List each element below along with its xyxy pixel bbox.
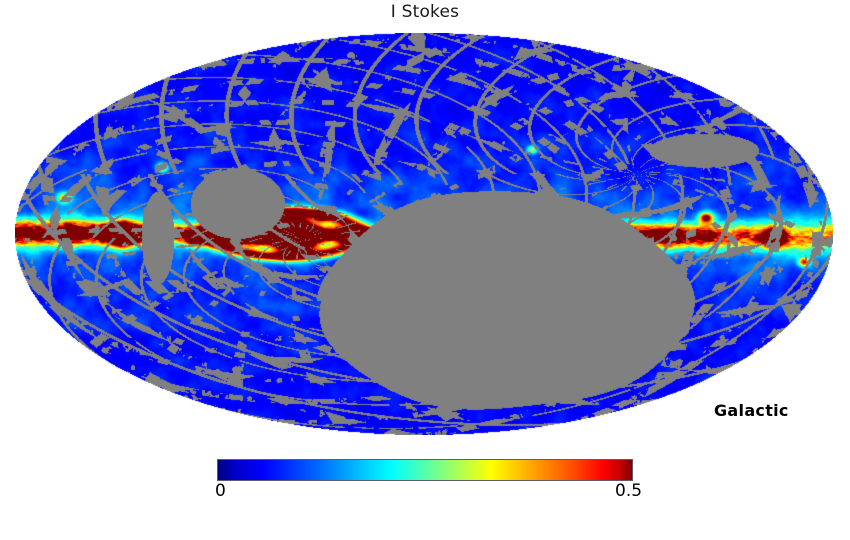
page-title: I Stokes bbox=[0, 2, 850, 22]
colorbar-gradient bbox=[217, 459, 633, 481]
colorbar-min-label: 0 bbox=[215, 483, 226, 500]
colorbar bbox=[217, 459, 633, 481]
sky-map-figure: I Stokes Galactic 0 0.5 bbox=[0, 0, 850, 540]
colorbar-max-label: 0.5 bbox=[615, 483, 642, 500]
sky-map-canvas bbox=[15, 33, 833, 435]
mollweide-map-area bbox=[15, 33, 833, 435]
coordinate-system-label: Galactic bbox=[714, 401, 789, 420]
